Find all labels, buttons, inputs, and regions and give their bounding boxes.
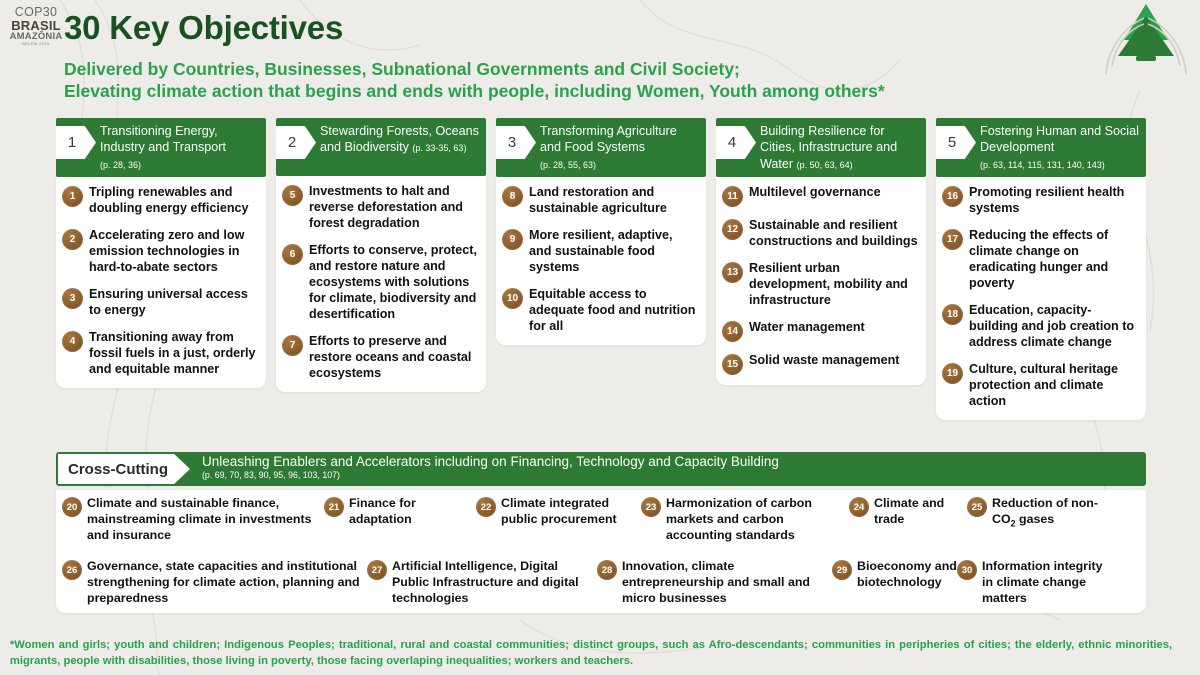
enabler-text: Information integrity in climate change … bbox=[982, 559, 1107, 606]
objective-item[interactable]: 10Equitable access to adequate food and … bbox=[502, 287, 698, 335]
objective-number-badge: 17 bbox=[942, 229, 963, 250]
objective-item[interactable]: 12Sustainable and resilient construction… bbox=[722, 218, 918, 250]
enabler-row-1: 20Climate and sustainable finance, mains… bbox=[62, 496, 1142, 543]
objective-number-badge: 14 bbox=[722, 321, 743, 342]
pillar-header-2: 2Stewarding Forests, Oceans and Biodiver… bbox=[276, 118, 486, 176]
enabler-number-badge: 23 bbox=[641, 497, 661, 517]
enabler-number-badge: 29 bbox=[832, 560, 852, 580]
pillar-body-2: 5Investments to halt and reverse defores… bbox=[276, 176, 486, 392]
objective-item[interactable]: 4Transitioning away from fossil fuels in… bbox=[62, 330, 258, 378]
enabler-item[interactable]: 25Reduction of non-CO2 gases bbox=[967, 496, 1117, 530]
objective-number-badge: 6 bbox=[282, 244, 303, 265]
objective-text: Water management bbox=[749, 320, 865, 336]
enabler-number-badge: 22 bbox=[476, 497, 496, 517]
objective-item[interactable]: 7Efforts to preserve and restore oceans … bbox=[282, 334, 478, 382]
enabler-item[interactable]: 20Climate and sustainable finance, mains… bbox=[62, 496, 324, 543]
objective-item[interactable]: 2Accelerating zero and low emission tech… bbox=[62, 228, 258, 276]
pillar-title-text: Transitioning Energy, Industry and Trans… bbox=[100, 124, 226, 154]
pillar-column-1: 1Transitioning Energy, Industry and Tran… bbox=[56, 118, 266, 420]
enabler-text: Climate and sustainable finance, mainstr… bbox=[87, 496, 324, 543]
enabler-number-badge: 25 bbox=[967, 497, 987, 517]
objective-text: Reducing the effects of climate change o… bbox=[969, 228, 1138, 292]
objective-item[interactable]: 6Efforts to conserve, protect, and resto… bbox=[282, 243, 478, 323]
pillar-number-badge: 3 bbox=[496, 126, 536, 159]
enabler-item[interactable]: 22Climate integrated public procurement bbox=[476, 496, 641, 528]
objective-number-badge: 19 bbox=[942, 363, 963, 384]
pillar-body-4: 11Multilevel governance12Sustainable and… bbox=[716, 177, 926, 385]
objective-text: Equitable access to adequate food and nu… bbox=[529, 287, 698, 335]
objective-number-badge: 5 bbox=[282, 185, 303, 206]
objective-item[interactable]: 17Reducing the effects of climate change… bbox=[942, 228, 1138, 292]
enabler-item[interactable]: 21Finance for adaptation bbox=[324, 496, 476, 528]
page-subtitle: Delivered by Countries, Businesses, Subn… bbox=[64, 58, 885, 103]
objective-text: Accelerating zero and low emission techn… bbox=[89, 228, 258, 276]
objective-text: Tripling renewables and doubling energy … bbox=[89, 185, 258, 217]
objective-number-badge: 3 bbox=[62, 288, 83, 309]
objective-text: Efforts to preserve and restore oceans a… bbox=[309, 334, 478, 382]
subtitle-line-1: Delivered by Countries, Businesses, Subn… bbox=[64, 58, 885, 80]
pillar-title: Stewarding Forests, Oceans and Biodivers… bbox=[320, 123, 480, 156]
cross-cutting-pages: (p. 69, 70, 83, 90, 95, 96, 103, 107) bbox=[202, 470, 779, 480]
pillar-number-badge: 5 bbox=[936, 126, 976, 159]
objective-item[interactable]: 11Multilevel governance bbox=[722, 185, 918, 207]
pillar-page-refs: (p. 28, 36) bbox=[100, 160, 141, 170]
pillar-body-5: 16Promoting resilient health systems17Re… bbox=[936, 177, 1146, 420]
pillar-column-4: 4Building Resilience for Cities, Infrast… bbox=[716, 118, 926, 420]
enabler-item[interactable]: 29Bioeconomy and biotechnology bbox=[832, 559, 957, 591]
objective-text: Education, capacity-building and job cre… bbox=[969, 303, 1138, 351]
enabler-number-badge: 26 bbox=[62, 560, 82, 580]
enabler-text: Climate integrated public procurement bbox=[501, 496, 641, 528]
pillar-page-refs: (p. 33-35, 63) bbox=[412, 143, 466, 153]
pillar-header-1: 1Transitioning Energy, Industry and Tran… bbox=[56, 118, 266, 177]
logo-belem-text: BELÉM 2025 bbox=[8, 42, 64, 46]
objective-text: Multilevel governance bbox=[749, 185, 881, 201]
objective-number-badge: 2 bbox=[62, 229, 83, 250]
enabler-text: Artificial Intelligence, Digital Public … bbox=[392, 559, 597, 606]
enabler-number-badge: 30 bbox=[957, 560, 977, 580]
pillar-header-4: 4Building Resilience for Cities, Infrast… bbox=[716, 118, 926, 177]
pillar-header-3: 3Transforming Agriculture and Food Syste… bbox=[496, 118, 706, 177]
enabler-text: Bioeconomy and biotechnology bbox=[857, 559, 957, 591]
pillar-column-3: 3Transforming Agriculture and Food Syste… bbox=[496, 118, 706, 420]
pillar-title: Transitioning Energy, Industry and Trans… bbox=[100, 123, 260, 172]
pillar-title-text: Fostering Human and Social Development bbox=[980, 124, 1139, 154]
enabler-item[interactable]: 30Information integrity in climate chang… bbox=[957, 559, 1107, 606]
pillar-page-refs: (p. 50, 63, 64) bbox=[797, 160, 853, 170]
pillar-column-2: 2Stewarding Forests, Oceans and Biodiver… bbox=[276, 118, 486, 420]
pillar-column-5: 5Fostering Human and Social Development … bbox=[936, 118, 1146, 420]
pillar-page-refs: (p. 28, 55, 63) bbox=[540, 160, 596, 170]
subtitle-line-2: Elevating climate action that begins and… bbox=[64, 80, 885, 102]
pillar-number-badge: 4 bbox=[716, 126, 756, 159]
enabler-item[interactable]: 23Harmonization of carbon markets and ca… bbox=[641, 496, 849, 543]
objective-text: Land restoration and sustainable agricul… bbox=[529, 185, 698, 217]
pillar-columns: 1Transitioning Energy, Industry and Tran… bbox=[56, 118, 1146, 420]
page-title: 30 Key Objectives bbox=[64, 9, 343, 47]
objective-item[interactable]: 3Ensuring universal access to energy bbox=[62, 287, 258, 319]
objective-number-badge: 16 bbox=[942, 186, 963, 207]
enabler-item[interactable]: 28Innovation, climate entrepreneurship a… bbox=[597, 559, 832, 606]
objective-item[interactable]: 8Land restoration and sustainable agricu… bbox=[502, 185, 698, 217]
enabler-text: Harmonization of carbon markets and carb… bbox=[666, 496, 849, 543]
objective-text: Ensuring universal access to energy bbox=[89, 287, 258, 319]
enablers-panel: 20Climate and sustainable finance, mains… bbox=[56, 490, 1146, 613]
pillar-number-badge: 1 bbox=[56, 126, 96, 159]
enabler-number-badge: 24 bbox=[849, 497, 869, 517]
objective-text: Culture, cultural heritage protection an… bbox=[969, 362, 1138, 410]
objective-number-badge: 4 bbox=[62, 331, 83, 352]
objective-item[interactable]: 16Promoting resilient health systems bbox=[942, 185, 1138, 217]
objective-number-badge: 15 bbox=[722, 354, 743, 375]
cross-cutting-title-block: Unleashing Enablers and Accelerators inc… bbox=[202, 454, 779, 480]
objective-item[interactable]: 18Education, capacity-building and job c… bbox=[942, 303, 1138, 351]
cop30-lamp-icon bbox=[1098, 0, 1194, 82]
enabler-number-badge: 21 bbox=[324, 497, 344, 517]
objective-text: Transitioning away from fossil fuels in … bbox=[89, 330, 258, 378]
objective-item[interactable]: 19Culture, cultural heritage protection … bbox=[942, 362, 1138, 410]
enabler-number-badge: 20 bbox=[62, 497, 82, 517]
objective-text: Promoting resilient health systems bbox=[969, 185, 1138, 217]
cross-cutting-tag: Cross-Cutting bbox=[58, 454, 190, 484]
enabler-text: Governance, state capacities and institu… bbox=[87, 559, 367, 606]
enabler-number-badge: 28 bbox=[597, 560, 617, 580]
objective-number-badge: 1 bbox=[62, 186, 83, 207]
objective-text: Efforts to conserve, protect, and restor… bbox=[309, 243, 478, 323]
enabler-text: Reduction of non-CO2 gases bbox=[992, 496, 1117, 530]
objective-item[interactable]: 15Solid waste management bbox=[722, 353, 918, 375]
objective-item[interactable]: 14Water management bbox=[722, 320, 918, 342]
pillar-title: Transforming Agriculture and Food System… bbox=[540, 123, 700, 172]
logo-brasil-text: BRASIL bbox=[8, 19, 64, 32]
objective-item[interactable]: 9More resilient, adaptive, and sustainab… bbox=[502, 228, 698, 276]
cop30-logo: COP30 BRASIL AMAZÔNIA BELÉM 2025 bbox=[8, 6, 64, 54]
pillar-page-refs: (p. 63, 114, 115, 131, 140, 143) bbox=[980, 160, 1105, 170]
enabler-item[interactable]: 26Governance, state capacities and insti… bbox=[62, 559, 367, 606]
objective-item[interactable]: 1Tripling renewables and doubling energy… bbox=[62, 185, 258, 217]
pillar-title-text: Transforming Agriculture and Food System… bbox=[540, 124, 677, 154]
logo-cop-text: COP30 bbox=[8, 6, 64, 19]
objective-item[interactable]: 5Investments to halt and reverse defores… bbox=[282, 184, 478, 232]
objective-number-badge: 8 bbox=[502, 186, 523, 207]
enabler-item[interactable]: 24Climate and trade bbox=[849, 496, 967, 528]
enabler-text: Innovation, climate entrepreneurship and… bbox=[622, 559, 832, 606]
logo-amazonia-text: AMAZÔNIA bbox=[8, 32, 64, 42]
enabler-number-badge: 27 bbox=[367, 560, 387, 580]
objective-number-badge: 7 bbox=[282, 335, 303, 356]
objective-text: Resilient urban development, mobility an… bbox=[749, 261, 918, 309]
pillar-number-badge: 2 bbox=[276, 126, 316, 159]
objective-item[interactable]: 13Resilient urban development, mobility … bbox=[722, 261, 918, 309]
objective-text: More resilient, adaptive, and sustainabl… bbox=[529, 228, 698, 276]
objective-number-badge: 9 bbox=[502, 229, 523, 250]
pillar-body-1: 1Tripling renewables and doubling energy… bbox=[56, 177, 266, 388]
enabler-item[interactable]: 27Artificial Intelligence, Digital Publi… bbox=[367, 559, 597, 606]
enabler-text: Finance for adaptation bbox=[349, 496, 476, 528]
objective-number-badge: 13 bbox=[722, 262, 743, 283]
enabler-text: Climate and trade bbox=[874, 496, 967, 528]
objective-text: Investments to halt and reverse deforest… bbox=[309, 184, 478, 232]
objective-number-badge: 18 bbox=[942, 304, 963, 325]
objective-text: Solid waste management bbox=[749, 353, 899, 369]
cross-cutting-banner: Cross-Cutting Unleashing Enablers and Ac… bbox=[56, 452, 1146, 486]
objective-number-badge: 11 bbox=[722, 186, 743, 207]
cross-cutting-title: Unleashing Enablers and Accelerators inc… bbox=[202, 454, 779, 469]
objective-text: Sustainable and resilient constructions … bbox=[749, 218, 918, 250]
pillar-title: Fostering Human and Social Development (… bbox=[980, 123, 1140, 172]
objective-number-badge: 10 bbox=[502, 288, 523, 309]
footnote: *Women and girls; youth and children; In… bbox=[0, 637, 1182, 670]
enabler-row-2: 26Governance, state capacities and insti… bbox=[62, 559, 1142, 606]
pillar-header-5: 5Fostering Human and Social Development … bbox=[936, 118, 1146, 177]
pillar-title: Building Resilience for Cities, Infrastr… bbox=[760, 123, 920, 172]
objective-number-badge: 12 bbox=[722, 219, 743, 240]
pillar-body-3: 8Land restoration and sustainable agricu… bbox=[496, 177, 706, 345]
